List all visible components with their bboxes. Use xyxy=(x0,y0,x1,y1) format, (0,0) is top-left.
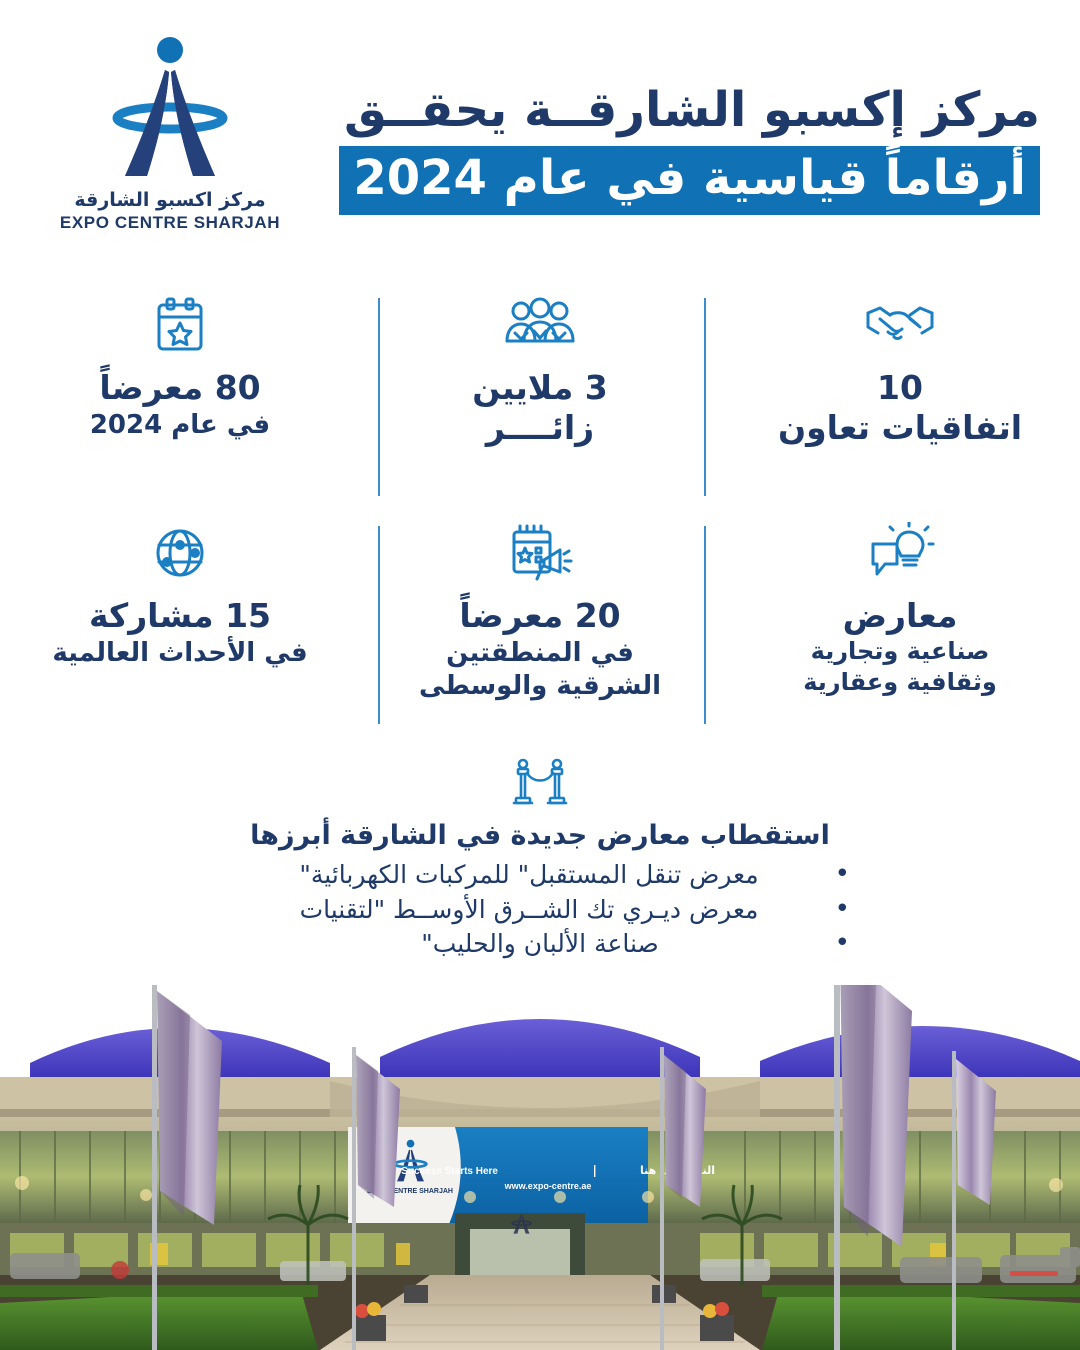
billboard-url: www.expo-centre.ae xyxy=(504,1181,592,1191)
stat-label: صناعية وتجارية xyxy=(811,637,990,667)
stats-grid: 10 اتفاقيات تعاون xyxy=(0,292,1080,742)
brand-name-en: EXPO CENTRE SHARJAH xyxy=(40,213,300,233)
building-illustration: EXPO CENTRE SHARJAH Success Starts Here … xyxy=(0,985,1080,1350)
stat-detail: الشرقية والوسطى xyxy=(419,670,661,702)
list-item: معرض تنقل المستقبل" للمركبات الكهربائية" xyxy=(230,859,850,892)
divider-vertical xyxy=(378,526,380,724)
headline-highlight-band: أرقاماً قياسية في عام 2024 xyxy=(339,146,1040,216)
stat-card-exhibitions-2024: 80 معرضاً في عام 2024 xyxy=(0,292,360,502)
headline-line-1: مركز إكسبو الشارقــة يحقــق xyxy=(420,82,1040,140)
stat-value: 80 معرضاً xyxy=(99,368,260,408)
stat-value: 20 معرضاً xyxy=(459,596,620,636)
list-item-continuation: صناعة الألبان والحليب" xyxy=(230,928,850,961)
stats-row-1: 10 اتفاقيات تعاون xyxy=(0,292,1080,502)
stat-card-cooperation-agreements: 10 اتفاقيات تعاون xyxy=(720,292,1080,502)
brand-name-ar: مركز اكسبو الشارقة xyxy=(40,190,300,211)
stat-label: زائــــر xyxy=(486,408,594,448)
divider-vertical xyxy=(704,526,706,724)
stat-value: 15 مشاركة xyxy=(89,596,271,636)
stats-row-2: معارض صناعية وتجارية وثقافية وعقارية xyxy=(0,520,1080,730)
calendar-star-icon xyxy=(152,292,208,358)
billboard-tagline-en: Success Starts Here xyxy=(401,1166,498,1177)
header: مركز اكسبو الشارقة EXPO CENTRE SHARJAH م… xyxy=(0,0,1080,270)
brand-logo: مركز اكسبو الشارقة EXPO CENTRE SHARJAH xyxy=(40,28,300,233)
stat-label: في الأحداث العالمية xyxy=(52,637,307,669)
list-item: معرض ديـري تك الشــرق الأوســط "لتقنيات xyxy=(230,894,850,927)
stat-label: اتفاقيات تعاون xyxy=(778,408,1022,448)
globe-network-icon xyxy=(151,520,209,586)
stat-detail: وثقافية وعقارية xyxy=(803,668,997,698)
stat-label: في المنطقتين xyxy=(446,637,634,669)
stat-card-visitors: 3 ملايين زائــــر xyxy=(360,292,720,502)
handshake-icon xyxy=(864,292,936,358)
stat-label: في عام 2024 xyxy=(90,409,270,441)
headline-line-2: أرقاماً قياسية في عام 2024 xyxy=(353,152,1026,206)
stanchion-rope-icon xyxy=(0,758,1080,814)
infographic-page: مركز اكسبو الشارقة EXPO CENTRE SHARJAH م… xyxy=(0,0,1080,1350)
note-bullet-list: معرض تنقل المستقبل" للمركبات الكهربائية"… xyxy=(230,859,850,961)
three-people-icon xyxy=(501,292,579,358)
stat-card-global-participations: 15 مشاركة في الأحداث العالمية xyxy=(0,520,360,730)
new-exhibitions-note: استقطاب معارض جديدة في الشارقة أبرزها مع… xyxy=(0,758,1080,961)
stat-value: 10 xyxy=(877,368,923,408)
stat-card-exhibition-types: معارض صناعية وتجارية وثقافية وعقارية xyxy=(720,520,1080,730)
stat-value: معارض xyxy=(843,596,958,636)
lightbulb-chat-icon xyxy=(865,520,935,586)
expo-centre-sharjah-logo-icon xyxy=(95,28,245,188)
note-title: استقطاب معارض جديدة في الشارقة أبرزها xyxy=(0,818,1080,853)
expo-centre-sharjah-building-photo: EXPO CENTRE SHARJAH Success Starts Here … xyxy=(0,985,1080,1350)
divider-vertical xyxy=(704,298,706,496)
headline: مركز إكسبو الشارقــة يحقــق أرقاماً قياس… xyxy=(420,82,1040,215)
divider-vertical xyxy=(378,298,380,496)
stat-value: 3 ملايين xyxy=(472,368,608,408)
stat-card-regional-exhibitions: 20 معرضاً في المنطقتين الشرقية والوسطى xyxy=(360,520,720,730)
calendar-megaphone-icon xyxy=(506,520,574,586)
